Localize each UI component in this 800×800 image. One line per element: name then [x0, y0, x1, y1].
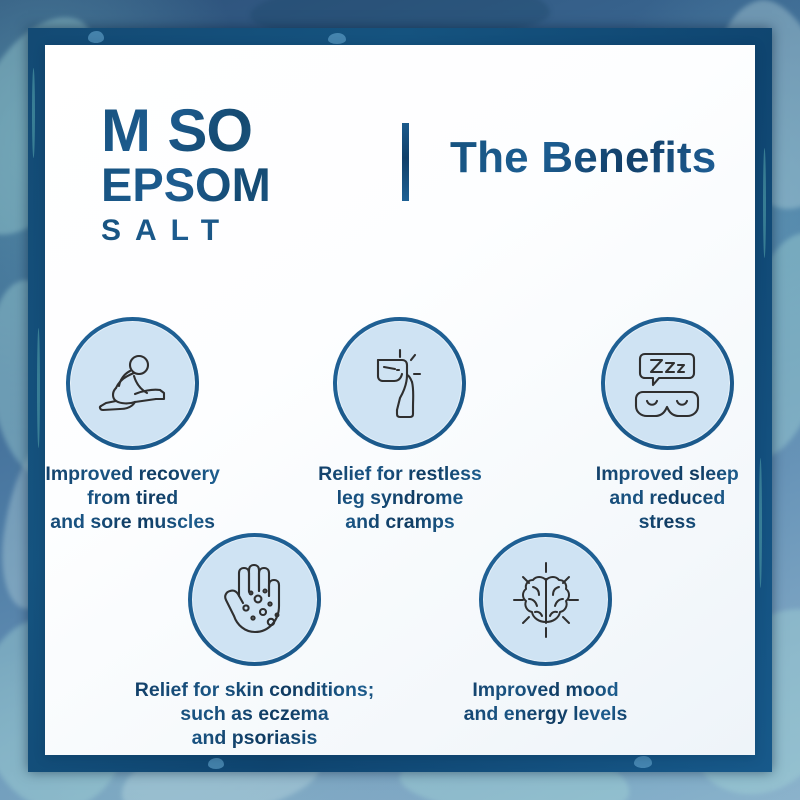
benefit-caption: Relief for skin conditions; such as ecze… — [135, 679, 374, 750]
brand-subname: SALT — [101, 212, 366, 250]
caption-line: Improved mood — [464, 679, 628, 703]
band-flower — [328, 33, 346, 44]
caption-line: stress — [596, 511, 739, 535]
benefits-row-bottom: Relief for skin conditions; such as ecze… — [45, 533, 755, 750]
caption-line: and sore muscles — [45, 511, 220, 535]
caption-line: Relief for skin conditions; — [135, 679, 374, 703]
leg-pain-icon — [364, 344, 436, 424]
benefit-icon-circle — [66, 317, 199, 450]
caption-line: Improved recovery — [45, 463, 220, 487]
benefit-icon-circle — [479, 533, 612, 666]
caption-line: and cramps — [318, 511, 482, 535]
benefit-item: Improved recovery from tired and sore mu… — [45, 317, 220, 534]
band-stem — [763, 148, 766, 258]
poster-header: MgSO4 EPSOM SALT The Benefits — [45, 75, 755, 225]
benefit-item: Improved mood and energy levels — [443, 533, 648, 750]
band-stem — [37, 328, 40, 448]
caption-line: and reduced — [596, 487, 739, 511]
chemical-formula: MgSO4 — [101, 103, 366, 158]
band-stem — [759, 458, 762, 588]
benefit-caption: Improved recovery from tired and sore mu… — [45, 463, 220, 534]
spotted-hand-icon — [215, 560, 295, 640]
band-flower — [88, 31, 104, 43]
benefits-row-top: Improved recovery from tired and sore mu… — [45, 317, 755, 534]
formula-sub-g: g — [150, 132, 167, 165]
header-divider — [402, 123, 409, 201]
benefit-icon-circle — [333, 317, 466, 450]
caption-line: such as eczema — [135, 703, 374, 727]
epsom-salt-benefits-poster: MgSO4 EPSOM SALT The Benefits — [0, 0, 800, 800]
benefit-caption: Relief for restless leg syndrome and cra… — [318, 463, 482, 534]
brand-name: EPSOM — [101, 160, 366, 211]
caption-line: Improved sleep — [596, 463, 739, 487]
band-flower — [208, 758, 224, 769]
sleep-mask-zzz-icon — [625, 346, 709, 422]
content-panel: MgSO4 EPSOM SALT The Benefits — [45, 45, 755, 755]
benefit-caption: Improved mood and energy levels — [464, 679, 628, 727]
formula-sub-4: 4 — [252, 133, 267, 164]
benefit-item: Relief for restless leg syndrome and cra… — [312, 317, 487, 534]
caption-line: Relief for restless — [318, 463, 482, 487]
page-title: The Benefits — [450, 133, 716, 183]
radiant-brain-icon — [505, 559, 587, 641]
person-stretching-icon — [90, 349, 176, 419]
benefit-icon-circle — [601, 317, 734, 450]
caption-line: from tired — [45, 487, 220, 511]
formula-so: SO — [167, 97, 252, 164]
formula-mg: M — [101, 97, 150, 164]
benefit-item: Relief for skin conditions; such as ecze… — [152, 533, 357, 750]
caption-line: leg syndrome — [318, 487, 482, 511]
band-flower — [634, 756, 652, 768]
benefit-icon-circle — [188, 533, 321, 666]
band-stem — [32, 68, 35, 158]
brand-logo: MgSO4 EPSOM SALT — [101, 103, 366, 249]
caption-line: and psoriasis — [135, 727, 374, 751]
benefit-caption: Improved sleep and reduced stress — [596, 463, 739, 534]
caption-line: and energy levels — [464, 703, 628, 727]
benefit-item: Improved sleep and reduced stress — [580, 317, 755, 534]
